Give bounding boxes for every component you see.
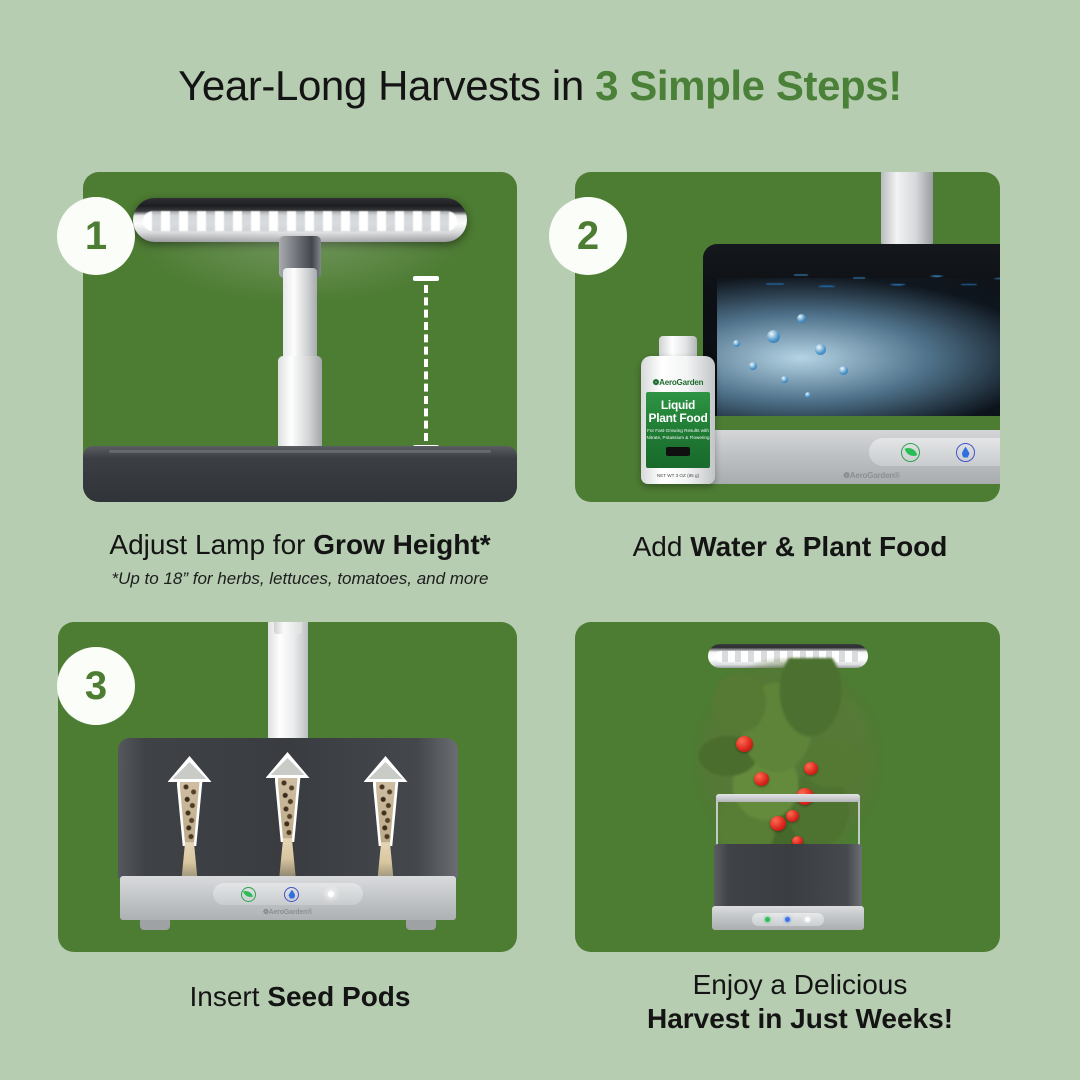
bubble	[815, 344, 826, 355]
bottle-seal-icon	[666, 447, 690, 456]
step-3-caption-bold: Seed Pods	[267, 981, 410, 1012]
step-1-caption-bold: Grow Height*	[313, 529, 490, 560]
aerogarden-with-harvest	[700, 644, 876, 936]
bottle-net-weight: NET WT 3 OZ (85 g)	[641, 473, 715, 478]
seed-pod	[266, 752, 310, 890]
bubble	[805, 392, 811, 398]
step-4-caption-plain: Enjoy a Delicious	[693, 969, 908, 1000]
step-3-caption-plain: Insert	[190, 981, 268, 1012]
garden-base	[83, 446, 517, 502]
step-3-caption: Insert Seed Pods	[40, 980, 560, 1014]
plant-food-bottle: ❁AeroGarden Liquid Plant Food For Fast-G…	[641, 336, 715, 484]
control-panel[interactable]	[869, 438, 1000, 466]
tomato-fruit	[804, 762, 818, 775]
page-title-plain: Year-Long Harvests in	[178, 62, 595, 109]
step-4-image-panel	[575, 622, 1000, 952]
plant-food-indicator[interactable]	[901, 443, 920, 462]
step-2-image-panel: ❁AeroGarden® ❁AeroGarden Liquid Plant Fo…	[575, 172, 1000, 502]
aerogarden-wordmark: ❁AeroGarden®	[703, 471, 1000, 480]
led-strip-icon	[143, 211, 457, 231]
tomato-fruit	[754, 772, 769, 786]
water-drop-icon	[288, 890, 295, 899]
water-reservoir	[703, 244, 1000, 416]
seed-pod	[364, 756, 408, 894]
water-drop-icon	[962, 447, 970, 458]
bubble	[839, 366, 848, 375]
grow-height-indicator	[413, 276, 439, 450]
step-number-badge-2: 2	[549, 197, 627, 275]
garden-base-deck: ❁AeroGarden®	[120, 876, 456, 920]
step-4-caption-bold: Harvest in Just Weeks!	[647, 1003, 953, 1034]
seed-pod	[168, 756, 212, 894]
control-panel[interactable]	[752, 913, 824, 926]
ruler-dashed-line	[424, 285, 428, 441]
bottle-brand-label: ❁AeroGarden	[641, 378, 715, 387]
ruler-cap-top	[413, 276, 439, 281]
step-1-caption: Adjust Lamp for Grow Height* *Up to 18” …	[0, 528, 600, 590]
step-number-badge-1: 1	[57, 197, 135, 275]
lamp-pole-lower-segment	[278, 356, 322, 460]
bottle-green-label: Liquid Plant Food For Fast-Growing Resul…	[646, 392, 710, 468]
step-number-badge-3: 3	[57, 647, 135, 725]
bottle-body: ❁AeroGarden Liquid Plant Food For Fast-G…	[641, 356, 715, 484]
light-indicator[interactable]	[805, 917, 810, 922]
step-4-caption: Enjoy a Delicious Harvest in Just Weeks!	[540, 968, 1060, 1036]
leaf-icon	[904, 446, 917, 459]
lamp-pole	[881, 172, 933, 246]
garden-foot	[406, 920, 436, 930]
bubble	[733, 340, 740, 347]
aerogarden-unit: ❁AeroGarden®	[118, 738, 458, 930]
aerogarden-wordmark: ❁AeroGarden®	[120, 908, 456, 916]
bubble	[781, 376, 788, 383]
seed-pod-cone-icon	[168, 756, 212, 782]
page-title: Year-Long Harvests in 3 Simple Steps!	[0, 62, 1080, 110]
water-level-indicator[interactable]	[284, 887, 299, 902]
seed-pod-cone-icon	[364, 756, 408, 782]
step-2-caption-plain: Add	[633, 531, 691, 562]
light-indicator[interactable]	[328, 891, 334, 897]
step-2-caption-bold: Water & Plant Food	[690, 531, 947, 562]
bottle-description: For Fast-Growing Results with Nitrate, P…	[646, 428, 710, 441]
step-1-image-panel	[83, 172, 517, 502]
step-2-caption: Add Water & Plant Food	[530, 530, 1050, 564]
garden-tub	[714, 844, 862, 910]
step-1-caption-plain: Adjust Lamp for	[109, 529, 313, 560]
garden-foot	[140, 920, 170, 930]
water-volume	[717, 278, 1000, 416]
water-surface-bubbles	[717, 266, 1000, 296]
control-panel[interactable]	[213, 883, 363, 905]
water-level-indicator[interactable]	[956, 443, 975, 462]
tomato-fruit	[736, 736, 753, 752]
lamp-pole	[268, 622, 308, 748]
plant-food-indicator[interactable]	[765, 917, 770, 922]
page-title-accent: 3 Simple Steps!	[595, 62, 902, 109]
water-level-indicator[interactable]	[785, 917, 790, 922]
seed-pod-cone-icon	[266, 752, 310, 778]
plant-food-indicator[interactable]	[241, 887, 256, 902]
garden-base-deck: ❁AeroGarden®	[703, 430, 1000, 484]
leaf-icon	[243, 889, 253, 899]
bubble	[749, 362, 757, 370]
bubble	[767, 330, 780, 343]
bottle-product-line2: Plant Food	[646, 412, 710, 425]
lamp-pole-upper-segment	[283, 268, 317, 364]
step-1-footnote: *Up to 18” for herbs, lettuces, tomatoes…	[0, 569, 600, 590]
bubble	[797, 314, 806, 323]
bottle-product-line1: Liquid	[646, 399, 710, 412]
